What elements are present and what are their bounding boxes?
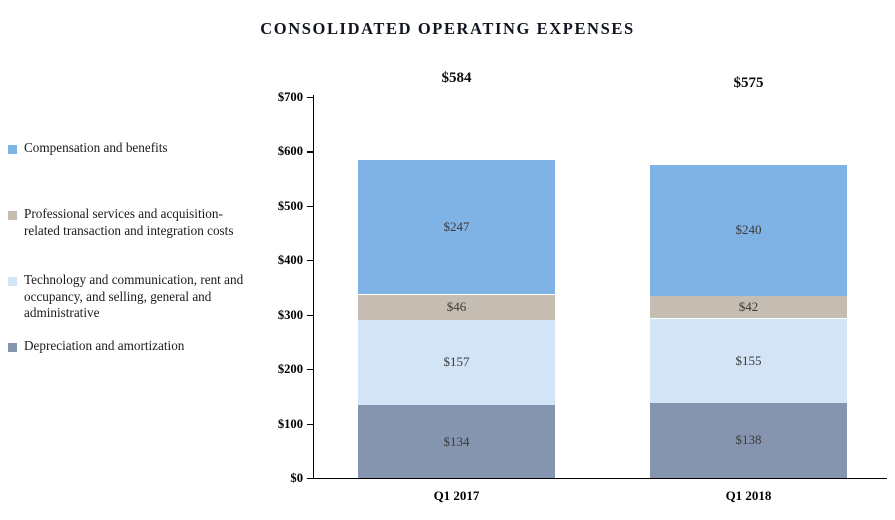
bar-total-label-q1-2018: $575	[650, 75, 847, 92]
y-tick-label-700: $700	[247, 90, 303, 105]
y-axis-line	[313, 95, 314, 479]
y-tick-400: $400	[247, 253, 303, 267]
x-axis-category-label-q1-2018: Q1 2018	[650, 488, 847, 504]
y-axis-tick-mark	[307, 260, 313, 261]
bar-total-label-q1-2017: $584	[358, 70, 555, 87]
bar-segment-compensation-q1-2018[interactable]: $240	[650, 165, 847, 296]
bar-segment-label-professional-services-q1-2018: $42	[739, 299, 759, 315]
y-tick-label-600: $600	[247, 144, 303, 159]
y-tick-300: $300	[247, 308, 303, 322]
y-axis-tick-mark	[307, 424, 313, 425]
bar-segment-professional-services-q1-2018[interactable]: $42	[650, 296, 847, 319]
bar-segment-professional-services-q1-2017[interactable]: $46	[358, 295, 555, 320]
x-axis-category-label-q1-2017: Q1 2017	[358, 488, 555, 504]
bar-segment-technology-q1-2018[interactable]: $155	[650, 319, 847, 403]
y-tick-200: $200	[247, 362, 303, 376]
bar-segment-label-technology-q1-2018: $155	[736, 353, 762, 369]
bar-segment-label-depreciation-q1-2018: $138	[736, 432, 762, 448]
y-tick-label-400: $400	[247, 253, 303, 268]
bar-segment-label-professional-services-q1-2017: $46	[447, 299, 467, 315]
y-axis-tick-mark	[307, 97, 313, 98]
y-axis-tick-mark	[307, 315, 313, 316]
y-tick-label-100: $100	[247, 417, 303, 432]
bar-segment-label-compensation-q1-2018: $240	[736, 222, 762, 238]
bar-segment-depreciation-q1-2018[interactable]: $138	[650, 403, 847, 478]
bar-segment-depreciation-q1-2017[interactable]: $134	[358, 405, 555, 478]
bar-segment-compensation-q1-2017[interactable]: $247	[358, 160, 555, 294]
y-tick-label-0: $0	[247, 471, 303, 486]
y-axis-tick-mark	[307, 369, 313, 370]
bar-segment-technology-q1-2017[interactable]: $157	[358, 320, 555, 406]
y-tick-label-500: $500	[247, 199, 303, 214]
bar-column-q1-2018[interactable]: $575 $240 $42 $155 $138 Q1 2018	[650, 97, 847, 478]
bar-segment-label-compensation-q1-2017: $247	[444, 219, 470, 235]
y-tick-100: $100	[247, 417, 303, 431]
y-tick-label-200: $200	[247, 362, 303, 377]
bar-column-q1-2017[interactable]: $584 $247 $46 $157 $134 Q1 2017	[358, 97, 555, 478]
y-axis-tick-mark	[307, 206, 313, 207]
bar-segment-label-depreciation-q1-2017: $134	[444, 434, 470, 450]
y-tick-600: $600	[247, 144, 303, 158]
y-tick-500: $500	[247, 199, 303, 213]
y-axis-tick-mark	[307, 151, 313, 152]
chart-plot-area: $700 $600 $500 $400 $300 $200 $100 $0 $5…	[0, 0, 895, 520]
y-tick-700: $700	[247, 90, 303, 104]
y-axis-tick-mark	[307, 478, 313, 479]
y-tick-0: $0	[247, 471, 303, 485]
y-tick-label-300: $300	[247, 308, 303, 323]
bar-segment-label-technology-q1-2017: $157	[444, 354, 470, 370]
x-axis-line	[313, 478, 887, 479]
